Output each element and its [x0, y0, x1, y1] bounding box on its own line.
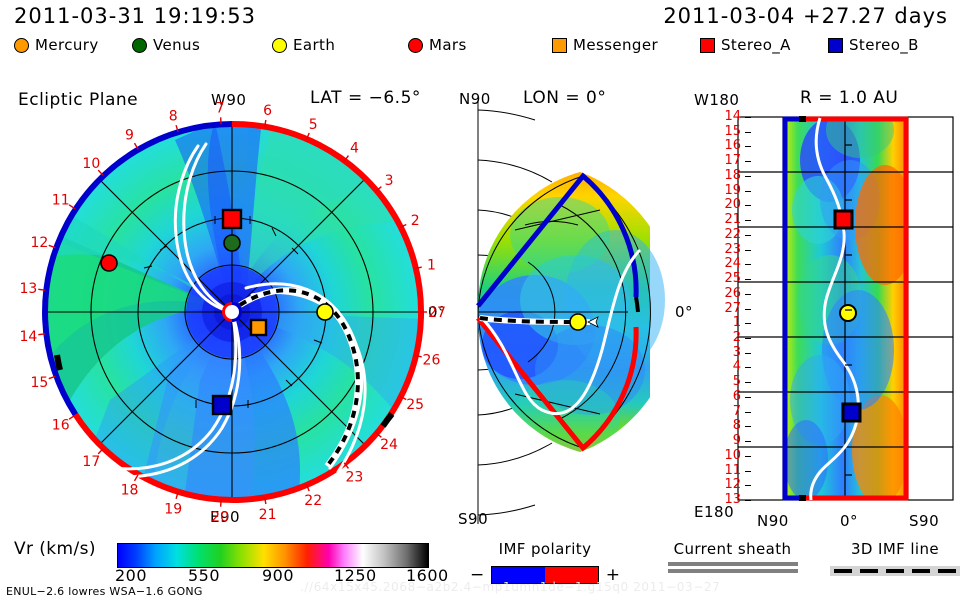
radial-day-label: 24	[724, 257, 741, 270]
stereo-a-marker-radial[interactable]	[835, 211, 852, 228]
radial-velocity-field	[783, 102, 915, 505]
radial-day-tick	[745, 309, 751, 310]
model-version-note: ENUL−2.6 lowres WSA−1.6 GONG	[6, 585, 203, 598]
radial-day-label: 4	[733, 360, 741, 373]
radial-day-tick	[745, 235, 751, 236]
mars-marker[interactable]	[101, 255, 117, 271]
current-sheath-swatch-top	[668, 562, 798, 566]
run-id-watermark: .//64x15x45.2068−a2b2.4−mp1umn1de−1.g15q…	[300, 580, 720, 594]
radial-day-tick	[745, 220, 751, 221]
radial-day-label: 22	[724, 228, 741, 241]
radial-day-tick	[745, 500, 751, 501]
radial-day-tick	[745, 294, 751, 295]
radial-day-tick	[745, 132, 751, 133]
ecliptic-plane-plot[interactable]	[0, 0, 460, 540]
radial-day-tick	[745, 117, 751, 118]
imf-polarity-title: IMF polarity	[470, 540, 620, 558]
radial-day-tick	[745, 382, 751, 383]
radial-day-tick	[745, 353, 751, 354]
current-sheath-swatch-bottom	[668, 569, 798, 573]
radial-day-label: 25	[724, 272, 741, 285]
radial-day-label: 5	[733, 375, 741, 388]
radial-day-label: 20	[724, 198, 741, 211]
radial-day-label: 15	[724, 125, 741, 138]
radial-day-label: 8	[733, 419, 741, 432]
radial-day-label: 2	[733, 331, 741, 344]
radial-day-tick	[745, 456, 751, 457]
radial-day-label: 14	[724, 110, 741, 123]
radial-day-tick	[745, 367, 751, 368]
radial-day-tick	[745, 146, 751, 147]
stereo-b-marker[interactable]	[213, 396, 231, 414]
radial-day-tick	[745, 161, 751, 162]
venus-marker[interactable]	[224, 235, 240, 251]
colorbar-tick: 900	[262, 566, 294, 585]
radial-day-tick	[745, 412, 751, 413]
imf-3d-line-legend: 3D IMF line	[830, 540, 960, 576]
radial-day-label: 10	[724, 449, 741, 462]
earth-marker-radial[interactable]	[840, 305, 856, 321]
radial-day-label: 27	[724, 302, 741, 315]
radial-day-label: 23	[724, 243, 741, 256]
imf-3d-line-title: 3D IMF line	[830, 540, 960, 558]
radial-day-tick	[745, 338, 751, 339]
radial-day-tick	[745, 485, 751, 486]
radial-day-tick	[745, 323, 751, 324]
radial-day-label: 19	[724, 184, 741, 197]
radial-day-label: 16	[724, 139, 741, 152]
mercury-marker[interactable]	[253, 322, 264, 333]
radial-day-label: 12	[724, 478, 741, 491]
radial-day-tick	[745, 279, 751, 280]
radial-day-tick	[745, 176, 751, 177]
radial-day-tick	[745, 441, 751, 442]
radial-day-label: 21	[724, 213, 741, 226]
radial-day-label: 3	[733, 346, 741, 359]
radial-day-tick	[745, 250, 751, 251]
imf-3d-line-swatch	[830, 566, 960, 576]
radial-day-tick	[745, 205, 751, 206]
colorbar-tick: 550	[188, 566, 220, 585]
radial-day-tick	[745, 191, 751, 192]
radial-day-tick	[745, 426, 751, 427]
radial-day-label: 7	[733, 405, 741, 418]
earth-marker[interactable]	[317, 304, 333, 320]
radial-day-label: 11	[724, 464, 741, 477]
colorbar-gradient	[117, 543, 429, 568]
radial-day-label: 9	[733, 434, 741, 447]
imf-polarity-legend: IMF polarity − +	[470, 540, 620, 585]
radial-day-label: 17	[724, 154, 741, 167]
radial-day-label: 18	[724, 169, 741, 182]
sun-marker	[222, 302, 242, 322]
radial-day-label: 1	[733, 316, 741, 329]
meridional-plot[interactable]	[440, 0, 690, 540]
radial-day-tick	[745, 397, 751, 398]
current-sheath-title: Current sheath	[650, 540, 815, 558]
ecliptic-velocity-field	[0, 110, 452, 532]
radial-day-label: 13	[724, 493, 741, 506]
radial-day-tick	[745, 471, 751, 472]
radial-day-label: 26	[724, 287, 741, 300]
radial-day-tick	[745, 264, 751, 265]
stereo-a-marker[interactable]	[223, 210, 241, 228]
radial-ytick-labels: 1415161718192021222324252627123456789101…	[690, 110, 745, 510]
colorbar-tick: 200	[115, 566, 147, 585]
earth-marker-meridional[interactable]	[570, 314, 586, 330]
stereo-b-marker-radial[interactable]	[843, 404, 860, 421]
radial-day-label: 6	[733, 390, 741, 403]
current-sheath-legend: Current sheath	[650, 540, 815, 573]
colorbar-label: Vr (km/s)	[14, 539, 96, 559]
